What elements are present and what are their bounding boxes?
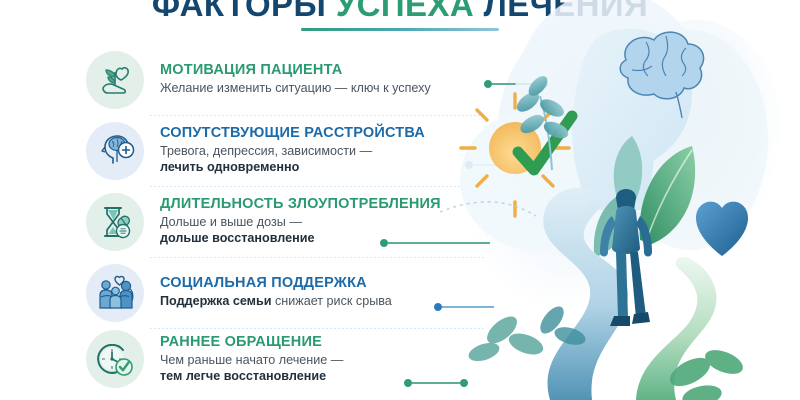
factor-subtitle: Тревога, депрессия, зависимости — лечить… — [160, 144, 425, 176]
infographic-canvas: ФАКТОРЫ УСПЕХА ЛЕЧЕНИЯ — [0, 0, 800, 400]
factor-row-comorbidity[interactable]: СОПУТСТВУЮЩИЕ РАССТРОЙСТВА Тревога, депр… — [86, 115, 476, 186]
factor-subtitle-line2: дольше восстановление — [160, 231, 314, 245]
hand-plant-heart-icon — [86, 51, 144, 109]
factor-heading: СОПУТСТВУЮЩИЕ РАССТРОЙСТВА — [160, 125, 425, 141]
factors-list: МОТИВАЦИЯ ПАЦИЕНТА Желание изменить ситу… — [86, 44, 476, 390]
factor-subtitle-line1: Желание изменить ситуацию — ключ к успех… — [160, 81, 431, 95]
recovery-illustration — [440, 0, 800, 400]
factor-row-duration[interactable]: ДЛИТЕЛЬНОСТЬ ЗЛОУПОТРЕБЛЕНИЯ Дольше и вы… — [86, 186, 476, 257]
factor-row-social-support[interactable]: СОЦИАЛЬНАЯ ПОДДЕРЖКА Поддержка семьи сни… — [86, 257, 476, 328]
factor-heading: ДЛИТЕЛЬНОСТЬ ЗЛОУПОТРЕБЛЕНИЯ — [160, 196, 441, 212]
factor-heading: РАННЕЕ ОБРАЩЕНИЕ — [160, 334, 343, 350]
factor-text: СОЦИАЛЬНАЯ ПОДДЕРЖКА Поддержка семьи сни… — [144, 275, 392, 310]
factor-subtitle-line1: Чем раньше начато лечение — — [160, 353, 343, 367]
factor-subtitle: Дольше и выше дозы — дольше восстановлен… — [160, 215, 441, 247]
factor-subtitle-bold-lead: Поддержка семьи — [160, 294, 271, 308]
factor-heading: СОЦИАЛЬНАЯ ПОДДЕРЖКА — [160, 275, 392, 291]
factor-row-early-treatment[interactable]: РАННЕЕ ОБРАЩЕНИЕ Чем раньше начато лечен… — [86, 328, 476, 390]
factor-text: РАННЕЕ ОБРАЩЕНИЕ Чем раньше начато лечен… — [144, 334, 343, 385]
factor-subtitle-line2: тем легче восстановление — [160, 369, 326, 383]
head-brain-plus-icon — [86, 122, 144, 180]
factor-text: ДЛИТЕЛЬНОСТЬ ЗЛОУПОТРЕБЛЕНИЯ Дольше и вы… — [144, 196, 441, 247]
family-heart-icon — [86, 264, 144, 322]
factor-subtitle: Поддержка семьи снижает риск срыва — [160, 294, 392, 310]
factor-subtitle: Чем раньше начато лечение — тем легче во… — [160, 353, 343, 385]
factor-subtitle-line1: Тревога, депрессия, зависимости — — [160, 144, 372, 158]
factor-row-motivation[interactable]: МОТИВАЦИЯ ПАЦИЕНТА Желание изменить ситу… — [86, 44, 476, 115]
leaf-icon — [466, 312, 546, 365]
factor-heading: МОТИВАЦИЯ ПАЦИЕНТА — [160, 62, 431, 78]
row-separator — [150, 328, 484, 329]
factor-subtitle: Желание изменить ситуацию — ключ к успех… — [160, 81, 431, 97]
factor-subtitle-line1: снижает риск срыва — [271, 294, 391, 308]
row-separator — [150, 186, 484, 187]
factor-text: МОТИВАЦИЯ ПАЦИЕНТА Желание изменить ситу… — [144, 62, 431, 97]
title-segment-1: ФАКТОРЫ — [152, 0, 336, 23]
clock-check-icon — [86, 330, 144, 388]
row-separator — [150, 257, 484, 258]
factor-text: СОПУТСТВУЮЩИЕ РАССТРОЙСТВА Тревога, депр… — [144, 125, 425, 176]
hourglass-pill-icon — [86, 193, 144, 251]
factor-subtitle-line2: лечить одновременно — [160, 160, 299, 174]
row-separator — [150, 115, 484, 116]
factor-subtitle-line1: Дольше и выше дозы — — [160, 215, 302, 229]
